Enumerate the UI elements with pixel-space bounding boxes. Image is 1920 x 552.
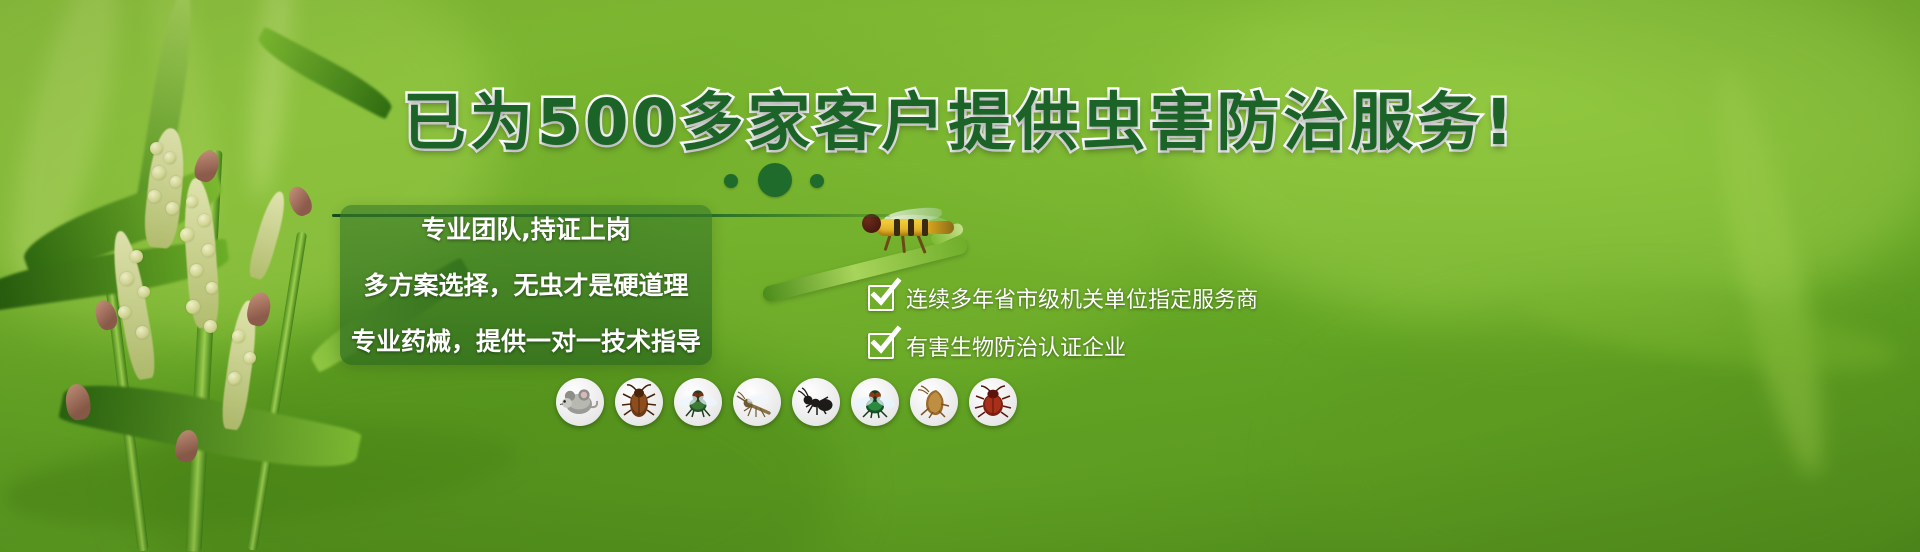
pest-control-hero-banner: 已为500多家客户提供虫害防治服务! 专业团队,持证上岗 多方案选择，无虫才是硬… [0, 0, 1920, 552]
mosquito-icon[interactable] [733, 378, 781, 426]
mouse-icon[interactable] [556, 378, 604, 426]
cockroach-icon[interactable] [615, 378, 663, 426]
feature-line: 专业药械，提供一对一技术指导 [350, 322, 702, 358]
feature-line: 专业团队,持证上岗 [350, 210, 702, 246]
page-title: 已为500多家客户提供虫害防治服务! [0, 72, 1920, 163]
list-item: 连续多年省市级机关单位指定服务商 [868, 274, 1298, 322]
checkbox-checked-icon [868, 285, 894, 311]
ant-icon[interactable] [792, 378, 840, 426]
list-item-label: 连续多年省市级机关单位指定服务商 [906, 282, 1258, 314]
decorative-dots [718, 163, 848, 197]
feature-line: 多方案选择，无虫才是硬道理 [350, 266, 702, 302]
credentials-checklist: 连续多年省市级机关单位指定服务商 有害生物防治认证企业 [868, 274, 1298, 370]
list-item: 有害生物防治认证企业 [868, 322, 1298, 370]
bedbug-icon[interactable] [969, 378, 1017, 426]
checkbox-checked-icon [868, 333, 894, 359]
blowfly-icon[interactable] [851, 378, 899, 426]
housefly-icon[interactable] [674, 378, 722, 426]
dot-small-icon [724, 174, 738, 188]
dot-small-icon [810, 174, 824, 188]
list-item-label: 有害生物防治认证企业 [906, 330, 1126, 362]
flea-icon[interactable] [910, 378, 958, 426]
feature-highlight-box: 专业团队,持证上岗 多方案选择，无虫才是硬道理 专业药械，提供一对一技术指导 [340, 205, 712, 365]
page-title-text: 已为500多家客户提供虫害防治服务! [403, 86, 1517, 159]
dot-large-icon [758, 163, 792, 197]
pest-type-icon-strip [556, 378, 1017, 426]
